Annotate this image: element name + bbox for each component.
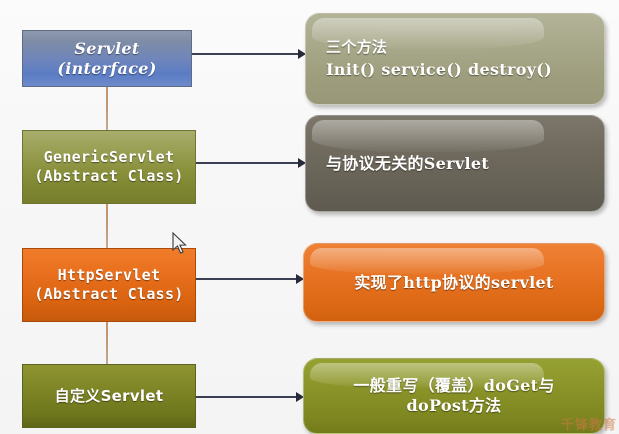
note-override-methods-line1: 一般重写（覆盖）doGet与: [353, 376, 554, 396]
node-custom-servlet-line1: 自定义Servlet: [55, 387, 164, 406]
node-servlet[interactable]: Servlet (interface): [22, 30, 192, 87]
connector-generic-to-protocol: [196, 162, 303, 164]
connector-servlet-to-methods: [192, 53, 303, 55]
node-generic-servlet[interactable]: GenericServlet (Abstract Class): [22, 130, 196, 204]
connector-http-to-impl: [196, 278, 301, 280]
watermark-text: 千锋教育: [561, 414, 617, 433]
node-http-servlet-line2: (Abstract Class): [34, 285, 183, 304]
connector-custom-to-override: [196, 396, 301, 398]
note-override-methods[interactable]: 一般重写（覆盖）doGet与 doPost方法: [303, 358, 605, 434]
node-servlet-line2: (interface): [57, 59, 156, 79]
note-http-implementation[interactable]: 实现了http协议的servlet: [303, 243, 605, 322]
node-custom-servlet[interactable]: 自定义Servlet: [22, 364, 196, 428]
note-http-implementation-line1: 实现了http协议的servlet: [354, 273, 553, 293]
note-three-methods[interactable]: 三个方法 Init() service() destroy(): [305, 13, 605, 105]
note-override-methods-line2: doPost方法: [407, 396, 502, 416]
connector-http-to-generic: [106, 198, 108, 252]
note-protocol-independent-line1: 与协议无关的Servlet: [320, 154, 489, 174]
node-http-servlet[interactable]: HttpServlet (Abstract Class): [22, 248, 196, 322]
node-servlet-line1: Servlet: [74, 39, 139, 59]
node-generic-servlet-line2: (Abstract Class): [34, 167, 183, 186]
note-three-methods-line2: Init() service() destroy(): [320, 60, 552, 80]
note-protocol-independent[interactable]: 与协议无关的Servlet: [305, 115, 605, 212]
note-three-methods-line1: 三个方法: [320, 38, 387, 57]
node-generic-servlet-line1: GenericServlet: [44, 148, 175, 167]
connector-custom-to-http: [106, 316, 108, 368]
diagram-canvas: Servlet (interface) GenericServlet (Abst…: [0, 0, 619, 434]
connector-generic-to-servlet: [106, 80, 108, 135]
node-http-servlet-line1: HttpServlet: [58, 266, 161, 285]
